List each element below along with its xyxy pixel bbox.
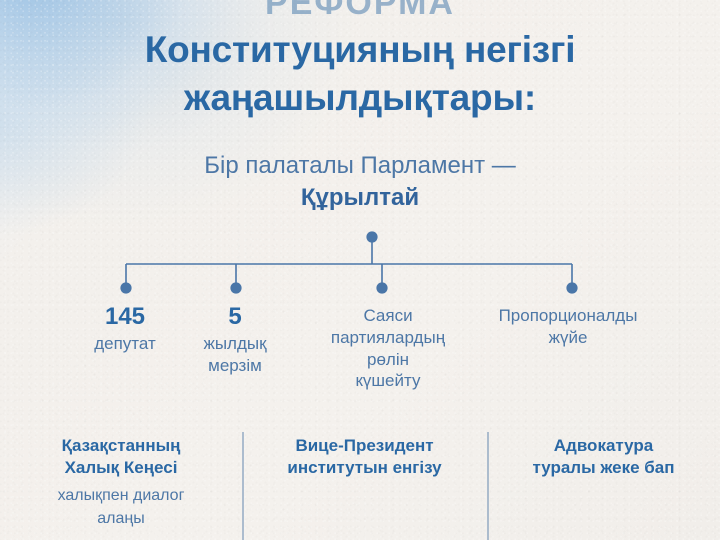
feature-column-term: 5 жылдық мерзім: [180, 303, 290, 392]
slide-content: РЕФОРМА Конституцияның негізгі жаңашылды…: [0, 0, 720, 540]
feature-label-proportional-line-2: жүйе: [478, 327, 658, 349]
feature-label-parties-line-2: партиялардың: [308, 327, 468, 349]
tree-node-2: [230, 282, 241, 293]
tree-node-3: [376, 282, 387, 293]
feature-label-parties-line-1: Саяси: [308, 303, 468, 327]
subtitle-line-1: Бір палаталы Парламент —: [0, 150, 720, 182]
panel-2-title-line-2: институтын енгізу: [242, 457, 487, 479]
feature-column-deputies: 145 депутат: [70, 303, 180, 392]
tree-node-4: [566, 282, 577, 293]
panel-3-title-line-1: Адвокатура: [487, 435, 720, 457]
feature-label-term-line-2: мерзім: [180, 355, 290, 377]
tree-node-root: [366, 231, 377, 242]
feature-number-145: 145: [70, 303, 180, 331]
panel-peoples-council: Қазақстанның Халық Кеңесі халықпен диало…: [0, 425, 242, 540]
tree-node-1: [120, 282, 131, 293]
feature-label-parties-line-3: рөлін: [308, 349, 468, 371]
panel-1-title-line-1: Қазақстанның: [0, 435, 242, 457]
kicker-reform-text: РЕФОРМА: [0, 0, 720, 23]
page-title-line-1: Конституцияның негізгі: [0, 26, 720, 74]
feature-label-deputat: депутат: [70, 333, 180, 355]
subtitle-line-2-emphasis: Құрылтай: [0, 182, 720, 214]
tree-nodes: [120, 231, 577, 293]
feature-label-parties-line-4: күшейту: [308, 370, 468, 392]
feature-number-5: 5: [180, 303, 290, 331]
feature-label-term-line-1: жылдық: [180, 333, 290, 355]
feature-column-parties: Саяси партиялардың рөлін күшейту: [308, 303, 468, 392]
feature-columns: 145 депутат 5 жылдық мерзім Саяси партия…: [0, 303, 720, 392]
page-title-line-2: жаңашылдықтары:: [0, 74, 720, 122]
panel-advocacy: Адвокатура туралы жеке бап: [487, 425, 720, 540]
panel-vice-president: Вице-Президент институтын енгізу: [242, 425, 487, 540]
panel-1-subtitle-line-1: халықпен диалог: [0, 486, 242, 507]
panel-2-title-line-1: Вице-Президент: [242, 435, 487, 457]
slide-canvas: РЕФОРМА Конституцияның негізгі жаңашылды…: [0, 0, 720, 540]
tree-connector-diagram: [0, 225, 720, 305]
bottom-panels: Қазақстанның Халық Кеңесі халықпен диало…: [0, 425, 720, 540]
tree-lines: [126, 239, 572, 287]
subtitle: Бір палаталы Парламент — Құрылтай: [0, 150, 720, 213]
page-title: Конституцияның негізгі жаңашылдықтары:: [0, 26, 720, 122]
panel-3-title-line-2: туралы жеке бап: [487, 457, 720, 479]
feature-column-proportional: Пропорционалды жүйе: [478, 303, 658, 392]
feature-label-proportional-line-1: Пропорционалды: [478, 303, 658, 327]
panel-1-subtitle-line-2: алаңы: [0, 509, 242, 530]
panel-1-title-line-2: Халық Кеңесі: [0, 457, 242, 479]
